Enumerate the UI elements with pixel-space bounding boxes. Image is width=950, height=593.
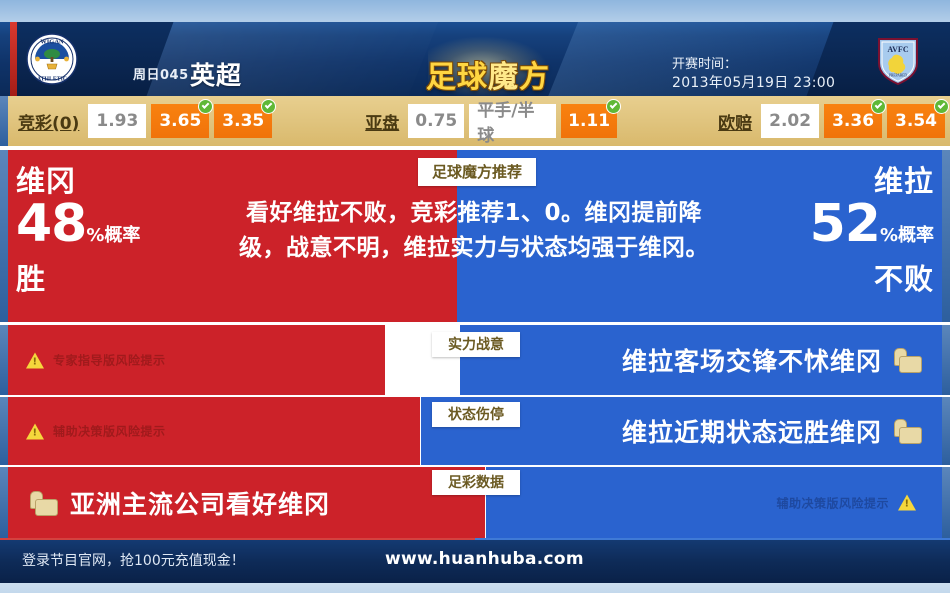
row3-headline-text: 亚洲主流公司看好维冈 [70, 485, 330, 521]
row2-risk-note: 辅助决策版风险提示 [26, 423, 166, 440]
away-probability-value: 52 [810, 194, 880, 254]
warning-icon [898, 495, 916, 511]
row2-risk-text: 辅助决策版风险提示 [53, 423, 166, 440]
away-probability: 52%概率 [810, 198, 934, 262]
panel-left-edge [0, 150, 8, 322]
odds-group-label: 欧赔 [718, 109, 752, 134]
check-icon [934, 99, 949, 114]
odds-value: 1.11 [568, 111, 610, 131]
odds-cell-3-3[interactable]: 3.54 [887, 104, 945, 138]
check-icon [871, 99, 886, 114]
svg-text:AVFC: AVFC [887, 45, 908, 54]
odds-cell-1-1[interactable]: 1.93 [88, 104, 146, 138]
odds-cell-2-2[interactable]: 平手/半球 [469, 104, 556, 138]
match-header: WIGAN ATHLETIC AVFC PREPARED 周日045 英超 足球… [0, 22, 950, 96]
kickoff-block: 开赛时间： 2013年05月19日 23:00 [672, 55, 835, 93]
brand-suffix: 方 [519, 60, 550, 95]
odds-group-3: 欧赔2.023.363.54 [718, 104, 950, 138]
tab-recommendation[interactable]: 足球魔方推荐 [418, 158, 536, 186]
row2-left-edge [0, 397, 8, 465]
odds-cell-3-1[interactable]: 2.02 [761, 104, 819, 138]
round-label: 周日045 [133, 64, 189, 83]
tab-strength-intent[interactable]: 实力战意 [432, 332, 520, 357]
check-icon [606, 99, 621, 114]
panel-right-edge [942, 150, 950, 322]
check-icon [198, 99, 213, 114]
home-probability-value: 48 [16, 194, 86, 254]
header-accent-bar [10, 22, 17, 96]
row3-risk-note: 辅助决策版风险提示 [776, 494, 916, 511]
kickoff-value: 2013年05月19日 23:00 [672, 74, 835, 93]
odds-group-label: 亚盘 [365, 109, 399, 134]
odds-cell-1-2[interactable]: 3.65 [151, 104, 209, 138]
odds-value: 平手/半球 [477, 96, 548, 146]
thumbs-up-icon [894, 348, 920, 372]
home-probability-block: 维冈 48%概率 胜 [16, 164, 140, 296]
svg-text:WIGAN: WIGAN [40, 39, 64, 46]
odds-bar: 竞彩(0)1.933.653.35亚盘0.75平手/半球1.11欧赔2.023.… [0, 96, 950, 146]
row1-headline: 维拉客场交锋不怵维冈 [622, 342, 920, 378]
home-outcome: 胜 [16, 262, 140, 296]
row1-risk-note: 专家指导版风险提示 [26, 352, 166, 369]
odds-cell-2-1[interactable]: 0.75 [408, 104, 464, 138]
kickoff-label: 开赛时间： [672, 55, 835, 74]
odds-value: 3.36 [832, 111, 874, 131]
analysis-text: 看好维拉不败，竞彩推荐1、0。维冈提前降级，战意不明，维拉实力与状态均强于维冈。 [234, 196, 714, 266]
svg-text:PREPARED: PREPARED [889, 74, 907, 78]
row2-headline-text: 维拉近期状态远胜维冈 [622, 413, 882, 449]
odds-group-1: 竞彩(0)1.933.653.35 [18, 104, 277, 138]
tab-form-injury[interactable]: 状态伤停 [432, 402, 520, 427]
league-title: 英超 [190, 56, 242, 92]
row1-left-edge [0, 325, 8, 395]
row1-right-edge [942, 325, 950, 395]
odds-cell-2-3[interactable]: 1.11 [561, 104, 617, 138]
row3-risk-text: 辅助决策版风险提示 [776, 494, 889, 511]
brand-logo: 足球魔方 [418, 50, 558, 94]
odds-value: 0.75 [415, 111, 457, 131]
odds-group-2: 亚盘0.75平手/半球1.11 [365, 104, 622, 138]
away-probability-block: 维拉 52%概率 不败 [810, 164, 934, 296]
brand-prefix: 足球 [426, 60, 488, 95]
wigan-athletic-crest-icon: WIGAN ATHLETIC [26, 33, 78, 85]
row2-right-edge [942, 397, 950, 465]
odds-value: 3.35 [222, 111, 264, 131]
row3-right-edge [942, 467, 950, 538]
row3-headline: 亚洲主流公司看好维冈 [30, 485, 330, 521]
check-icon [261, 99, 276, 114]
footer-promo: 登录节目官网，抢100元充值现金！ [22, 550, 245, 570]
svg-text:ATHLETIC: ATHLETIC [37, 77, 67, 83]
odds-value: 1.93 [96, 111, 138, 131]
brand-middle: 魔 [488, 60, 519, 95]
warning-icon [26, 423, 44, 439]
odds-value: 2.02 [769, 111, 811, 131]
home-probability: 48%概率 [16, 198, 140, 262]
odds-group-label: 竞彩(0) [18, 109, 79, 134]
odds-value: 3.54 [895, 111, 937, 131]
row1-headline-text: 维拉客场交锋不怵维冈 [622, 342, 882, 378]
tab-lottery-data[interactable]: 足彩数据 [432, 470, 520, 495]
home-probability-unit: %概率 [86, 225, 140, 246]
broadcast-graphic: WIGAN ATHLETIC AVFC PREPARED 周日045 英超 足球… [0, 0, 950, 593]
warning-icon [26, 352, 44, 368]
aston-villa-crest-icon: AVFC PREPARED [872, 33, 924, 85]
home-team-name: 维冈 [16, 164, 140, 198]
odds-cell-3-2[interactable]: 3.36 [824, 104, 882, 138]
away-probability-unit: %概率 [880, 225, 934, 246]
thumbs-up-icon [30, 491, 56, 515]
odds-value: 3.65 [159, 111, 201, 131]
thumbs-up-icon [894, 419, 920, 443]
away-outcome: 不败 [810, 262, 934, 296]
row1-risk-text: 专家指导版风险提示 [53, 352, 166, 369]
brand-logo-text: 足球魔方 [418, 52, 558, 96]
away-team-name: 维拉 [810, 164, 934, 198]
odds-bar-left-edge [0, 96, 8, 146]
footer-url[interactable]: www.huanhuba.com [385, 549, 584, 569]
row3-left-edge [0, 467, 8, 538]
row2-headline: 维拉近期状态远胜维冈 [622, 413, 920, 449]
odds-cell-1-3[interactable]: 3.35 [214, 104, 272, 138]
